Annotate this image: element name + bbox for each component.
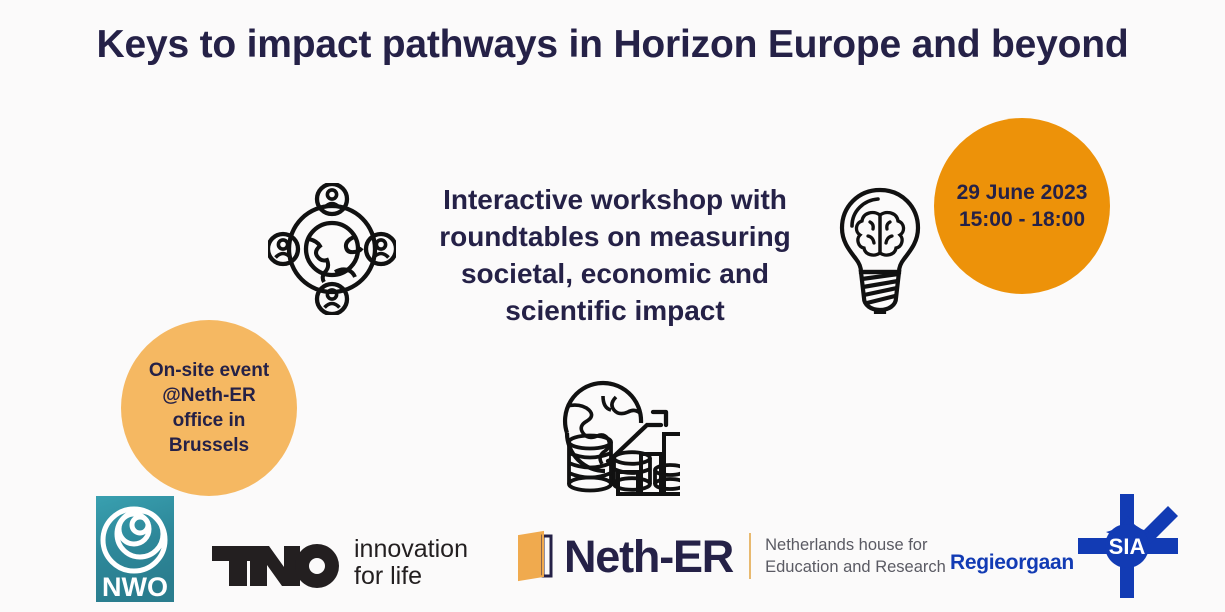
venue-badge-line: @Neth-ER: [149, 383, 269, 408]
tno-tagline-line: innovation: [354, 536, 468, 563]
workshop-description: Interactive workshop with roundtables on…: [410, 182, 820, 330]
description-line: societal, economic and: [410, 256, 820, 293]
economic-growth-icon: [546, 376, 680, 501]
logo-tno: innovation for life: [212, 536, 468, 590]
logo-nwo: NWO: [96, 496, 174, 607]
nether-tagline-line: Education and Research: [765, 556, 946, 578]
logo-sia: Regieorgaan SIA: [950, 492, 1180, 600]
lightbulb-brain-icon: [832, 186, 928, 319]
date-badge: 29 June 2023 15:00 - 18:00: [934, 118, 1110, 294]
open-door-icon: [515, 530, 555, 582]
nether-wordmark: Neth-ER: [564, 534, 733, 579]
sia-wordmark: Regieorgaan: [950, 551, 1074, 575]
nether-divider: [749, 533, 751, 579]
description-line: scientific impact: [410, 293, 820, 330]
nether-tagline-line: Netherlands house for: [765, 534, 946, 556]
nwo-wordmark: NWO: [102, 572, 168, 602]
venue-badge-line: office in: [149, 408, 269, 433]
description-line: roundtables on measuring: [410, 219, 820, 256]
venue-badge: On-site event @Neth-ER office in Brussel…: [121, 320, 297, 496]
tno-tagline-line: for life: [354, 563, 468, 590]
logo-nether: Neth-ER Netherlands house for Education …: [515, 530, 946, 582]
venue-badge-line: On-site event: [149, 358, 269, 383]
date-badge-line: 15:00 - 18:00: [957, 206, 1088, 233]
poster-canvas: Keys to impact pathways in Horizon Europ…: [0, 0, 1225, 612]
global-network-icon: [268, 183, 396, 320]
description-line: Interactive workshop with: [410, 182, 820, 219]
tno-wordmark: [212, 538, 342, 588]
sia-mark-label: SIA: [1109, 534, 1146, 559]
date-badge-line: 29 June 2023: [957, 179, 1088, 206]
page-title: Keys to impact pathways in Horizon Europ…: [0, 24, 1225, 67]
venue-badge-line: Brussels: [149, 433, 269, 458]
sia-mark-icon: SIA: [1076, 492, 1180, 600]
